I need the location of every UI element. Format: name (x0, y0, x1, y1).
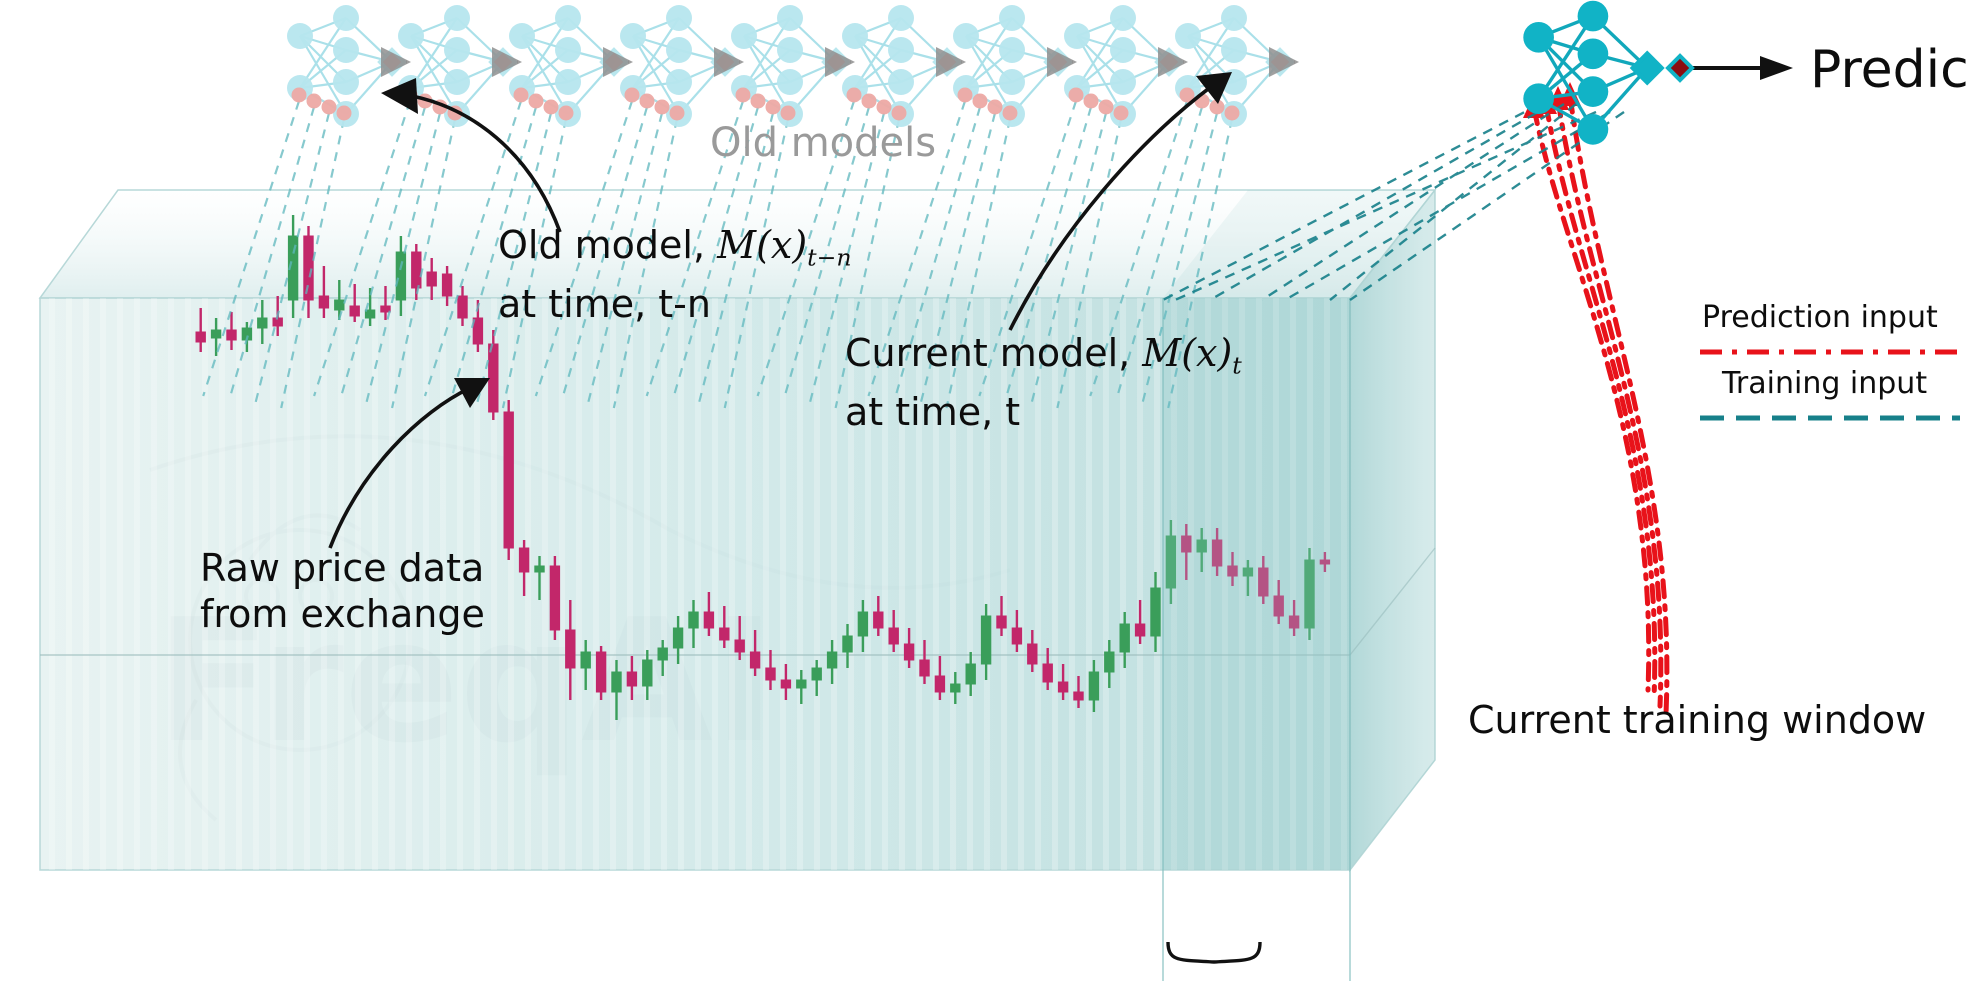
old-model-math-sub: t−n (807, 244, 851, 272)
old-model-annotation-line1: Old model, M(x)t−n (498, 222, 852, 281)
legend-prediction-input-label: Prediction input (1702, 300, 1938, 335)
current-model-prefix: Current model, (845, 331, 1142, 375)
prediction-label: Prediction (1810, 40, 1966, 100)
old-model-annotation-line2: at time, t-n (498, 281, 852, 327)
raw-price-annotation: Raw price data from exchange (200, 545, 485, 637)
old-model-annotation: Old model, M(x)t−n at time, t-n (498, 222, 852, 327)
old-model-prefix: Old model, (498, 223, 717, 267)
current-model-annotation-line1: Current model, M(x)t (845, 330, 1242, 389)
diagram-canvas: FreqAI (0, 0, 1966, 981)
training-window-label: Current training window (1468, 698, 1926, 742)
current-model-annotation: Current model, M(x)t at time, t (845, 330, 1242, 435)
current-model-annotation-line2: at time, t (845, 389, 1242, 435)
raw-price-annotation-line1: Raw price data (200, 545, 485, 591)
raw-price-annotation-line2: from exchange (200, 591, 485, 637)
legend-training-input-label: Training input (1722, 366, 1927, 401)
legend-swatches (0, 0, 1966, 981)
old-models-label: Old models (710, 120, 936, 166)
current-model-math-sub: t (1232, 352, 1241, 380)
old-model-math-base: M(x) (717, 223, 807, 267)
current-model-math-base: M(x) (1142, 331, 1232, 375)
